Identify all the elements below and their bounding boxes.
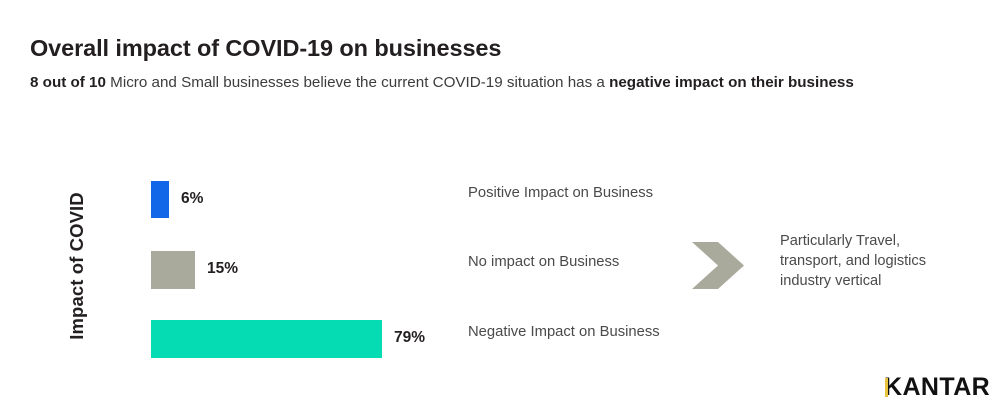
chevron-right-arrow-icon xyxy=(692,242,744,289)
bar-chart: Impact of COVID 6%15%79% Positive Impact… xyxy=(0,0,1000,411)
bar-0[interactable] xyxy=(151,181,169,218)
legend-label-0: Positive Impact on Business xyxy=(468,185,653,201)
annotation-line-0: Particularly Travel, xyxy=(780,231,980,251)
bar-value-label: 6% xyxy=(181,190,203,208)
logo-letter-k: K xyxy=(884,374,902,400)
annotation-line-2: industry vertical xyxy=(780,271,980,291)
annotation-callout: Particularly Travel,transport, and logis… xyxy=(780,231,980,291)
annotation-line-1: transport, and logistics xyxy=(780,251,980,271)
bar-value-label: 15% xyxy=(207,260,238,278)
bar-row: 79% xyxy=(151,320,502,358)
kantar-logo: KANTAR xyxy=(884,374,990,400)
legend-label-2: Negative Impact on Business xyxy=(468,324,660,340)
bar-row: 6% xyxy=(151,181,289,218)
y-axis-label-wrap: Impact of COVID xyxy=(62,180,96,352)
bar-2[interactable] xyxy=(151,320,382,358)
y-axis-label: Impact of COVID xyxy=(66,180,92,352)
legend-label-1: No impact on Business xyxy=(468,254,619,270)
bar-row: 15% xyxy=(151,251,315,289)
bar-value-label: 79% xyxy=(394,329,425,347)
slide-canvas: Overall impact of COVID-19 on businesses… xyxy=(0,0,1000,411)
bar-1[interactable] xyxy=(151,251,195,289)
logo-wordmark: ANTAR xyxy=(902,374,990,400)
